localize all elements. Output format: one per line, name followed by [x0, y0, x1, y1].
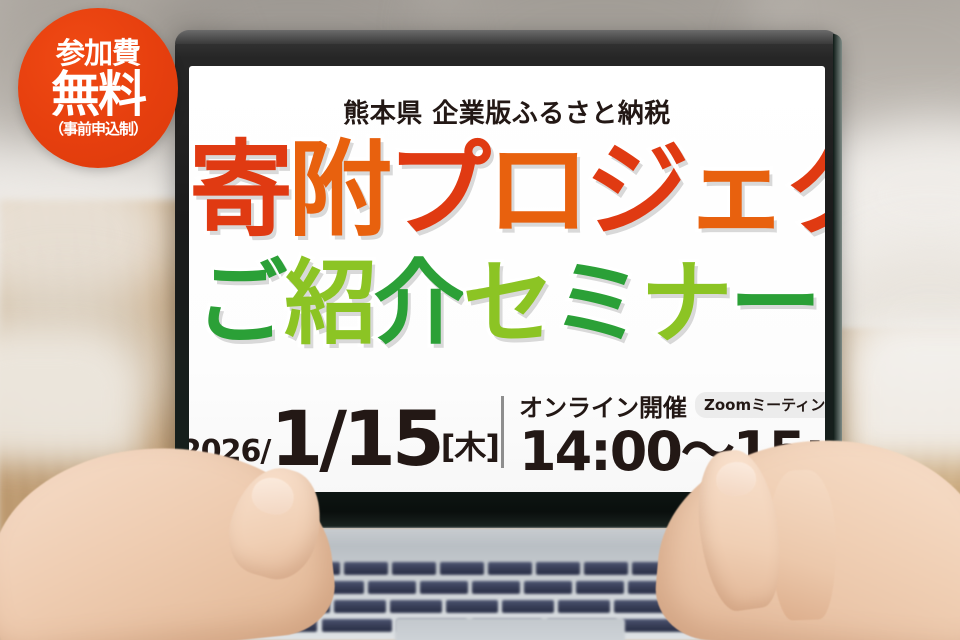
badge-sub-label: （事前申込制）: [49, 122, 147, 137]
keyboard-key[interactable]: [536, 562, 580, 575]
laptop-screen: 熊本県 企業版ふるさと納税 寄附プロジェクト ご紹介セミナー 2026/ 1/1…: [189, 66, 825, 496]
keyboard-key[interactable]: [440, 562, 484, 575]
zoom-platform-badge: Zoomミーティング: [695, 392, 825, 418]
title-char: セ: [462, 258, 551, 350]
online-format-label: オンライン開催: [519, 388, 687, 423]
laptop-lid-right-edge: [833, 34, 842, 496]
title-char: プ: [387, 138, 486, 242]
keyboard-key[interactable]: [446, 600, 498, 613]
keyboard-key[interactable]: [392, 562, 436, 575]
title-char: ジ: [585, 138, 684, 242]
badge-top-label: 参加費: [56, 39, 140, 68]
title-char: ェ: [684, 138, 783, 242]
title-char: ミ: [552, 258, 641, 350]
laptop-lid-top-edge: [175, 30, 839, 44]
info-divider: [501, 396, 504, 468]
badge-main-label: 無料: [51, 70, 145, 120]
free-admission-badge: 参加費 無料 （事前申込制）: [18, 8, 178, 168]
title-char: 介: [373, 258, 462, 350]
title-char: ロ: [486, 138, 585, 242]
keyboard-key[interactable]: [576, 581, 624, 594]
event-format-row: オンライン開催 Zoomミーティング: [519, 388, 819, 422]
keyboard-key[interactable]: [524, 581, 572, 594]
eyebrow-text: 熊本県 企業版ふるさと納税: [189, 93, 825, 130]
title-char: ー: [730, 258, 819, 350]
screen-content: 熊本県 企業版ふるさと納税 寄附プロジェクト ご紹介セミナー 2026/ 1/1…: [189, 66, 825, 496]
keyboard-key[interactable]: [584, 562, 628, 575]
keyboard-key[interactable]: [344, 562, 388, 575]
keyboard-key[interactable]: [472, 581, 520, 594]
title-char: 寄: [189, 138, 288, 242]
title-char: ナ: [641, 258, 730, 350]
title-char: ク: [783, 138, 825, 242]
keyboard-key[interactable]: [322, 619, 392, 632]
seminar-poster: 熊本県 企業版ふるさと納税 寄附プロジェクト ご紹介セミナー 2026/ 1/1…: [0, 0, 960, 640]
title-char: 附: [288, 138, 387, 242]
laptop-trackpad[interactable]: [395, 618, 625, 640]
keyboard-key[interactable]: [488, 562, 532, 575]
keyboard-key[interactable]: [390, 600, 442, 613]
keyboard-key[interactable]: [558, 600, 610, 613]
title-line-1: 寄附プロジェクト: [189, 138, 825, 242]
event-day-of-week: [木]: [441, 422, 499, 474]
title-char: 紹: [284, 258, 373, 350]
title-char: ご: [195, 258, 284, 350]
keyboard-key[interactable]: [368, 581, 416, 594]
keyboard-key[interactable]: [420, 581, 468, 594]
title-line-2: ご紹介セミナー: [189, 258, 825, 350]
keyboard-key[interactable]: [334, 600, 386, 613]
event-day: 1/15: [270, 404, 440, 474]
keyboard-key[interactable]: [502, 600, 554, 613]
